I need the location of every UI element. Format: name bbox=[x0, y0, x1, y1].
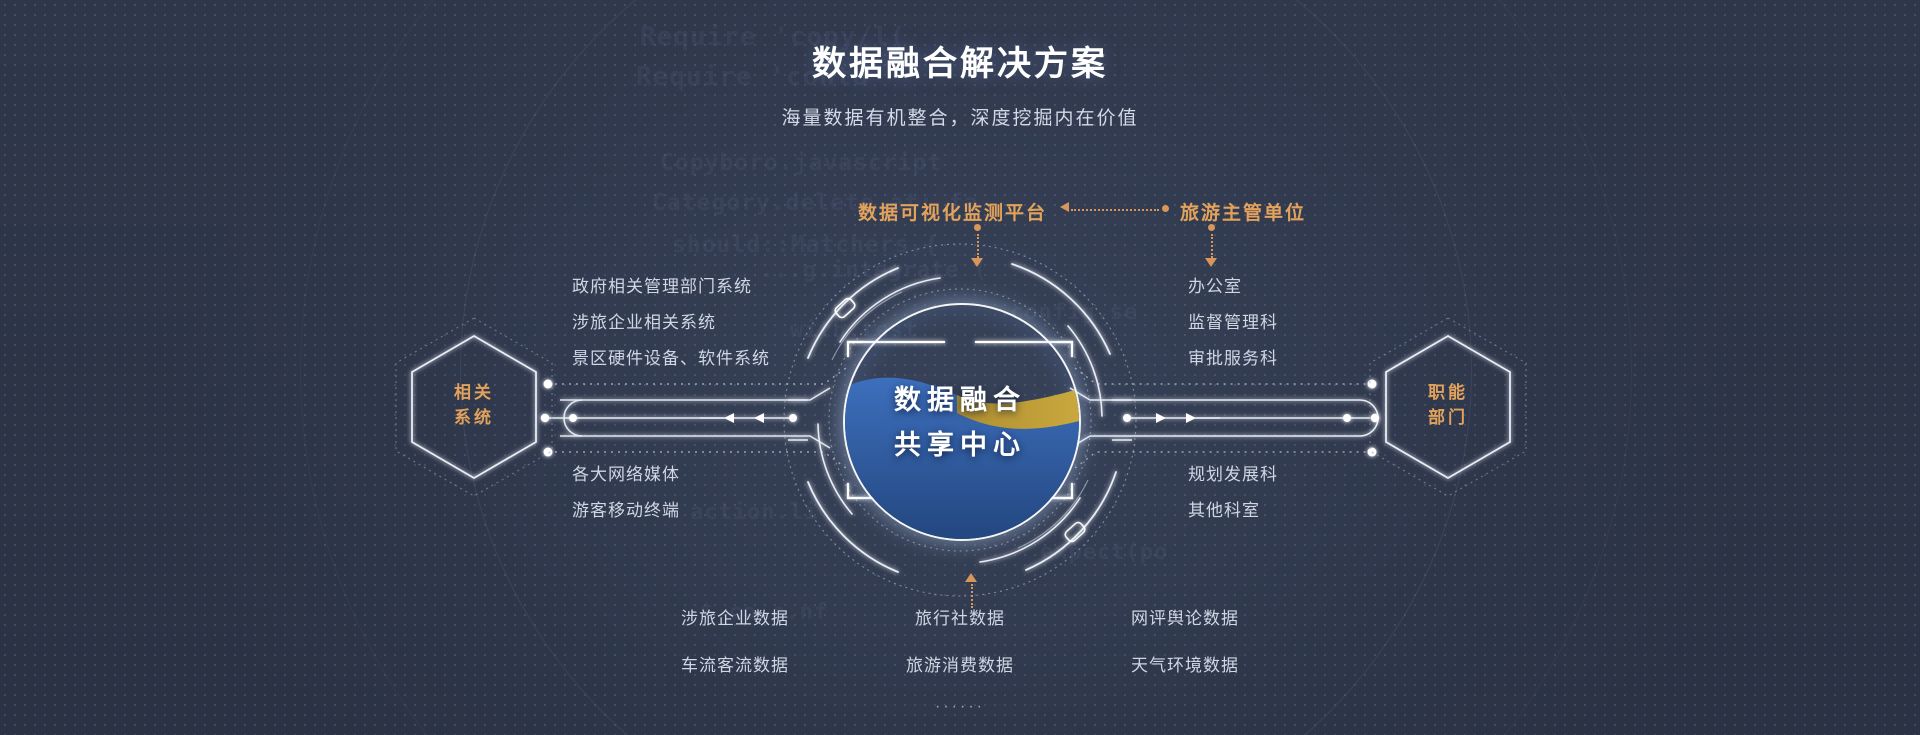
list-item[interactable]: 监督管理科 bbox=[1188, 314, 1278, 331]
vconn-bottom-arrow bbox=[965, 573, 977, 582]
hexagon-right-label: 职能 部门 bbox=[1386, 336, 1510, 476]
hex-left-line2: 系统 bbox=[454, 406, 494, 431]
list-item[interactable]: 各大网络媒体 bbox=[572, 466, 680, 483]
hex-left-line1: 相关 bbox=[454, 381, 494, 406]
hexagon-left-label: 相关 系统 bbox=[412, 336, 536, 476]
data-cell[interactable]: 涉旅企业数据 bbox=[653, 604, 818, 629]
hex-right-line1: 职能 bbox=[1428, 381, 1468, 406]
list-item[interactable]: 景区硬件设备、软件系统 bbox=[572, 350, 770, 367]
right-top-list: 办公室 监督管理科 审批服务科 bbox=[1188, 278, 1278, 386]
list-item[interactable]: 游客移动终端 bbox=[572, 502, 680, 519]
vconn-platform-arrow bbox=[971, 258, 983, 267]
data-cell[interactable]: 天气环境数据 bbox=[1103, 651, 1268, 676]
right-bottom-list: 规划发展科 其他科室 bbox=[1188, 466, 1278, 538]
data-cell[interactable]: 车流客流数据 bbox=[653, 651, 818, 676]
vconn-authority-arrow bbox=[1205, 258, 1217, 267]
hexagon-functional-departments[interactable]: 职能 部门 bbox=[1386, 336, 1510, 476]
list-item[interactable]: 办公室 bbox=[1188, 278, 1278, 295]
list-item[interactable]: 审批服务科 bbox=[1188, 350, 1278, 367]
left-top-list: 政府相关管理部门系统 涉旅企业相关系统 景区硬件设备、软件系统 bbox=[572, 278, 770, 386]
hexagon-related-systems[interactable]: 相关 系统 bbox=[412, 336, 536, 476]
vconn-authority-dots bbox=[1211, 234, 1213, 258]
data-ellipsis: ······ bbox=[0, 698, 1920, 716]
data-cell[interactable]: 网评舆论数据 bbox=[1103, 604, 1268, 629]
data-cell[interactable]: 旅行社数据 bbox=[878, 604, 1043, 629]
list-item[interactable]: 涉旅企业相关系统 bbox=[572, 314, 770, 331]
hub-sphere bbox=[843, 303, 1081, 541]
vconn-authority-dot bbox=[1208, 224, 1215, 231]
data-cell[interactable]: 旅游消费数据 bbox=[878, 651, 1043, 676]
page-subtitle: 海量数据有机整合，深度挖掘内在价值 bbox=[0, 85, 1920, 130]
list-item[interactable]: 政府相关管理部门系统 bbox=[572, 278, 770, 295]
page-title: 数据融合解决方案 bbox=[0, 0, 1920, 85]
hub-sphere-graphic bbox=[845, 305, 1079, 539]
list-item[interactable]: 规划发展科 bbox=[1188, 466, 1278, 483]
vconn-platform-dot bbox=[974, 224, 981, 231]
left-bottom-list: 各大网络媒体 游客移动终端 bbox=[572, 466, 680, 538]
arrow-left-icon bbox=[1060, 202, 1069, 212]
vconn-platform-dots bbox=[977, 234, 979, 258]
hex-right-line2: 部门 bbox=[1428, 406, 1468, 431]
connector-dot-icon bbox=[1162, 205, 1169, 212]
data-row-1: 涉旅企业数据 旅行社数据 网评舆论数据 bbox=[0, 604, 1920, 629]
bottom-data-grid: 涉旅企业数据 旅行社数据 网评舆论数据 车流客流数据 旅游消费数据 天气环境数据… bbox=[0, 604, 1920, 716]
label-tourism-authority[interactable]: 旅游主管单位 bbox=[1180, 198, 1306, 225]
list-item[interactable]: 其他科室 bbox=[1188, 502, 1278, 519]
data-row-2: 车流客流数据 旅游消费数据 天气环境数据 bbox=[0, 651, 1920, 676]
center-hub: 数据融合 共享中心 bbox=[780, 240, 1140, 600]
label-visualization-platform[interactable]: 数据可视化监测平台 bbox=[858, 198, 1047, 225]
header: 数据融合解决方案 海量数据有机整合，深度挖掘内在价值 bbox=[0, 0, 1920, 130]
dotted-connector bbox=[1071, 209, 1159, 213]
